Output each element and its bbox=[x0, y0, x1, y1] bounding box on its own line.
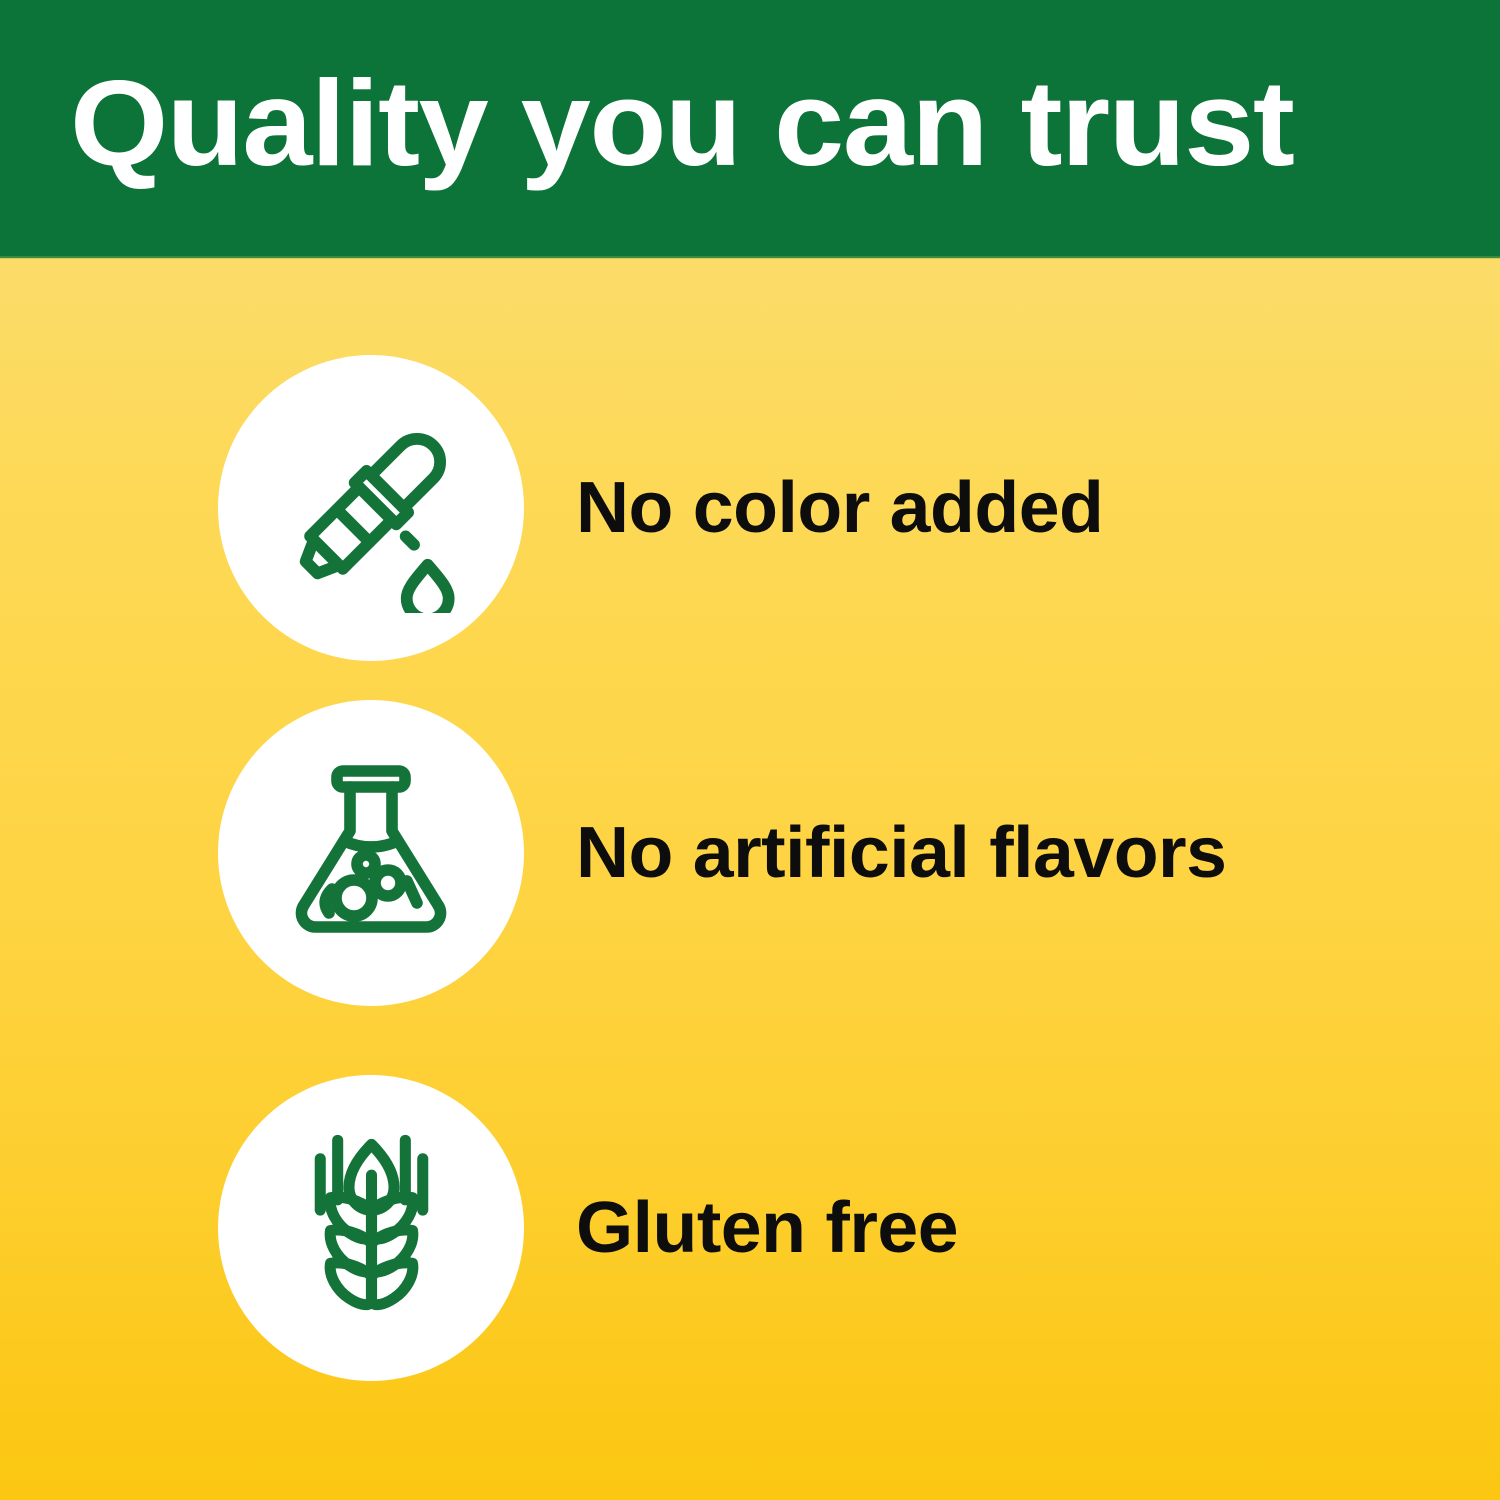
header-banner: Quality you can trust bbox=[0, 0, 1500, 258]
feature-row: Gluten free bbox=[0, 1075, 1500, 1381]
icon-badge bbox=[218, 700, 524, 1006]
feature-label: No color added bbox=[576, 355, 1103, 661]
dropper-icon bbox=[266, 403, 476, 613]
icon-badge bbox=[218, 1075, 524, 1381]
feature-row: No color added bbox=[0, 355, 1500, 661]
panel-divider bbox=[0, 256, 1500, 259]
feature-row: No artificial flavors bbox=[0, 700, 1500, 1006]
flask-icon bbox=[271, 753, 471, 953]
quality-infographic: Quality you can trust bbox=[0, 0, 1500, 1500]
feature-label: No artificial flavors bbox=[576, 700, 1226, 1006]
page-title: Quality you can trust bbox=[70, 62, 1293, 184]
feature-label: Gluten free bbox=[576, 1075, 958, 1381]
wheat-icon bbox=[269, 1126, 474, 1331]
icon-badge bbox=[218, 355, 524, 661]
